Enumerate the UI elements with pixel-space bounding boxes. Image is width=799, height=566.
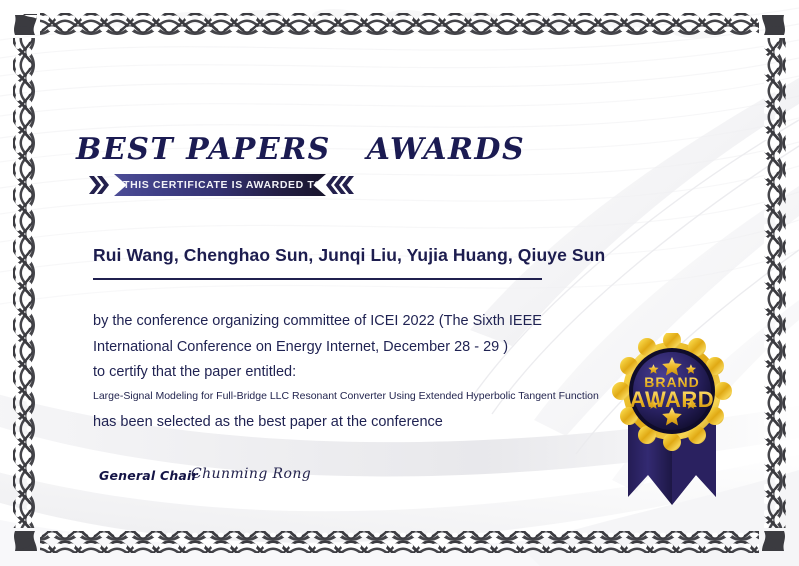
award-badge-svg: BRAND AWARD — [602, 333, 742, 505]
certificate-content: BEST PAPERS AWARDS THIS CERTIFICATE IS A… — [0, 0, 799, 566]
recipient-names: Rui Wang, Chenghao Sun, Junqi Liu, Yujia… — [93, 245, 605, 266]
body-line-4: has been selected as the best paper at t… — [93, 414, 443, 430]
chevron-left-icon — [326, 173, 354, 197]
page-title: BEST PAPERS AWARDS — [76, 132, 525, 167]
body-line-1: by the conference organizing committee o… — [93, 313, 542, 329]
certificate-page: BEST PAPERS AWARDS THIS CERTIFICATE IS A… — [0, 0, 799, 566]
body-line-2: International Conference on Energy Inter… — [93, 339, 508, 355]
body-line-3: to certify that the paper entitled: — [93, 364, 296, 380]
chevron-right-icon — [88, 173, 114, 197]
award-badge: BRAND AWARD — [602, 333, 742, 510]
signature-role-label: General Chair — [99, 468, 198, 483]
paper-title: Large-Signal Modeling for Full-Bridge LL… — [93, 390, 599, 402]
recipient-underline — [93, 278, 542, 280]
awarded-to-banner: THIS CERTIFICATE IS AWARDED TO — [88, 173, 354, 197]
badge-line-2: AWARD — [630, 387, 714, 412]
banner-bar: THIS CERTIFICATE IS AWARDED TO — [114, 174, 326, 196]
banner-label: THIS CERTIFICATE IS AWARDED TO — [123, 179, 323, 191]
signature-name: Chunming Rong — [191, 466, 311, 482]
